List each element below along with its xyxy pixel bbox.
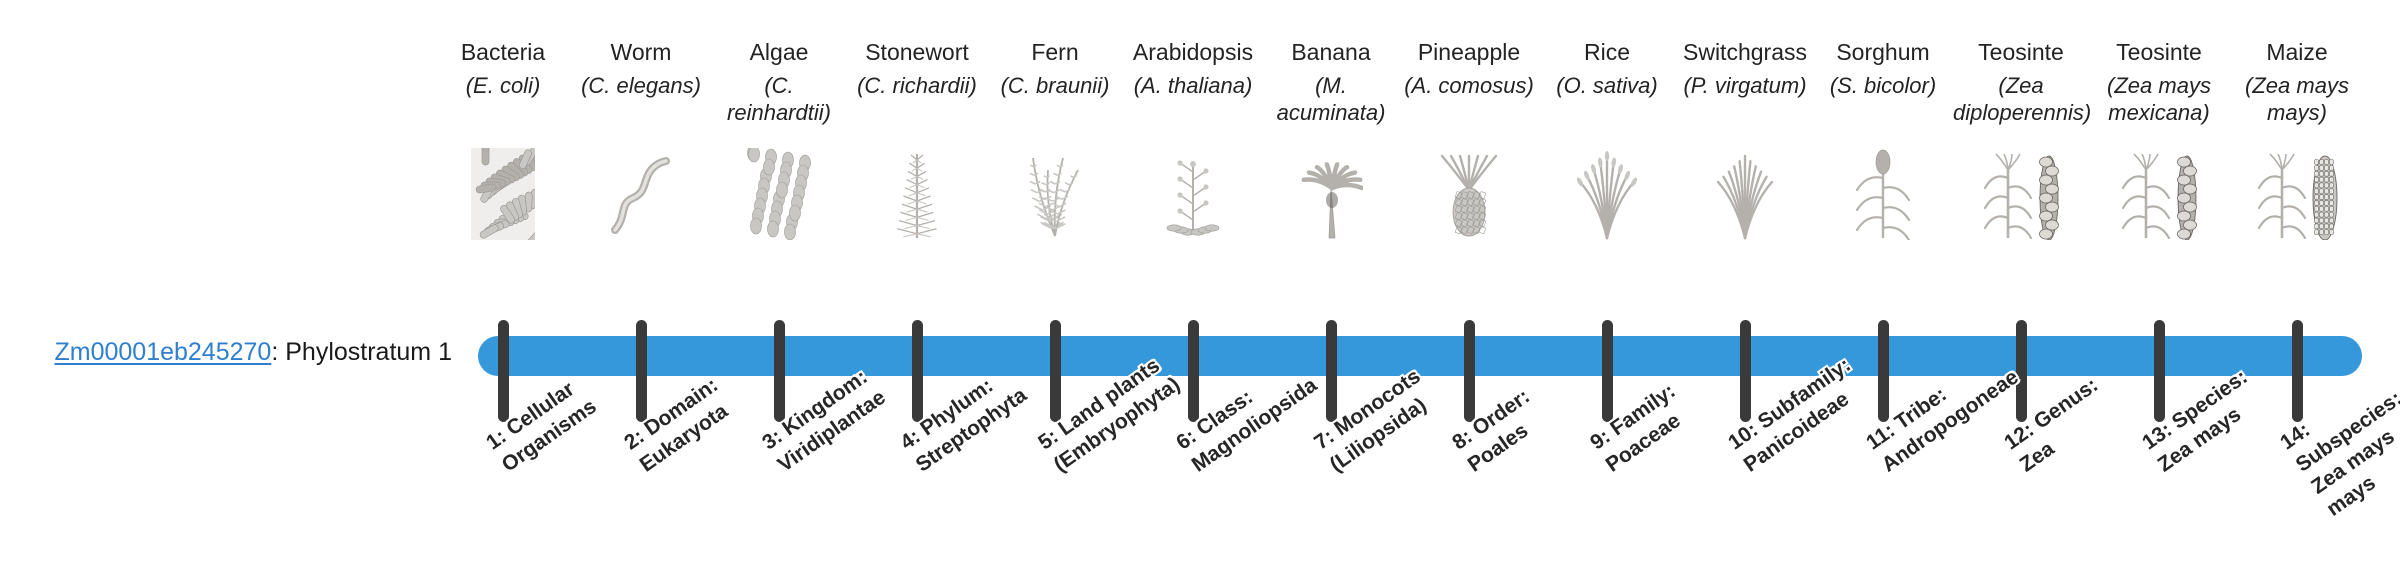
phylostratum-tick-2[interactable]: [636, 320, 647, 422]
phylostratum-tick-14[interactable]: [2292, 320, 2303, 422]
species-scientific-name: (C. braunii): [987, 72, 1123, 99]
species-column-worm-2: Worm(C. elegans): [571, 30, 711, 305]
species-common-name: Sorghum: [1803, 38, 1963, 66]
phylostratum-tick-6[interactable]: [1188, 320, 1199, 422]
species-column-switchgrass-10: Switchgrass(P. virgatum): [1675, 30, 1815, 305]
species-column-rice-9: Rice(O. sativa): [1537, 30, 1677, 305]
species-scientific-name: (Zea mays mexicana): [2091, 72, 2227, 126]
species-common-name: Switchgrass: [1665, 38, 1825, 66]
species-scientific-name: (O. sativa): [1539, 72, 1675, 99]
species-common-name: Maize: [2217, 38, 2377, 66]
species-common-name: Banana: [1251, 38, 1411, 66]
teosinte-illustration: [1951, 140, 2091, 240]
bacteria-illustration: [433, 140, 573, 240]
gene-phylostratum-label: Zm00001eb245270: Phylostratum 1: [0, 337, 452, 367]
phylostratum-tick-11[interactable]: [1878, 320, 1889, 422]
stonewort-illustration: [847, 140, 987, 240]
species-column-bacteria-1: Bacteria(E. coli): [433, 30, 573, 305]
maize-illustration: [2227, 140, 2367, 240]
species-common-name: Fern: [975, 38, 1135, 66]
species-column-maize-14: Maize(Zea mays mays): [2227, 30, 2367, 305]
switchgrass-illustration: [1675, 140, 1815, 240]
teosinte-mexicana-illustration: [2089, 140, 2229, 240]
species-common-name: Arabidopsis: [1113, 38, 1273, 66]
gene-id-link[interactable]: Zm00001eb245270: [54, 338, 271, 366]
phylostratum-tick-7[interactable]: [1326, 320, 1337, 422]
banana-illustration: [1261, 140, 1401, 240]
species-common-name: Teosinte: [1941, 38, 2101, 66]
phylostratum-tick-12[interactable]: [2016, 320, 2027, 422]
species-common-name: Pineapple: [1389, 38, 1549, 66]
species-scientific-name: (A. comosus): [1401, 72, 1537, 99]
species-common-name: Teosinte: [2079, 38, 2239, 66]
gene-separator: :: [271, 338, 285, 366]
rank-name: Genus:: [2030, 373, 2102, 433]
phylostratum-tick-10[interactable]: [1740, 320, 1751, 422]
species-scientific-name: (E. coli): [435, 72, 571, 99]
species-common-name: Bacteria: [423, 38, 583, 66]
phylostratum-tick-13[interactable]: [2154, 320, 2165, 422]
phylostratum-tick-3[interactable]: [774, 320, 785, 422]
species-common-name: Worm: [561, 38, 721, 66]
species-scientific-name: (M. acuminata): [1263, 72, 1399, 126]
species-scientific-name: (Zea diploperennis): [1953, 72, 2089, 126]
rice-illustration: [1537, 140, 1677, 240]
phylostratum-tick-9[interactable]: [1602, 320, 1613, 422]
species-scientific-name: (C. richardii): [849, 72, 985, 99]
species-column-stonewort-4: Stonewort(C. richardii): [847, 30, 987, 305]
pineapple-illustration: [1399, 140, 1539, 240]
worm-illustration: [571, 140, 711, 240]
species-common-name: Rice: [1527, 38, 1687, 66]
species-column-pineapple-8: Pineapple(A. comosus): [1399, 30, 1539, 305]
phylostratum-tick-1[interactable]: [498, 320, 509, 422]
species-scientific-name: (P. virgatum): [1677, 72, 1813, 99]
species-column-arabidopsis-6: Arabidopsis(A. thaliana): [1123, 30, 1263, 305]
phylostratum-tick-4[interactable]: [912, 320, 923, 422]
species-column-sorghum-11: Sorghum(S. bicolor): [1813, 30, 1953, 305]
species-column-teosinte-13: Teosinte(Zea mays mexicana): [2089, 30, 2229, 305]
fern-illustration: [985, 140, 1125, 240]
arabidopsis-illustration: [1123, 140, 1263, 240]
species-scientific-name: (C. elegans): [573, 72, 709, 99]
sorghum-illustration: [1813, 140, 1953, 240]
species-scientific-name: (C. reinhardtii): [711, 72, 847, 126]
species-column-teosinte-12: Teosinte(Zea diploperennis): [1951, 30, 2091, 305]
gene-phylostratum-value: Phylostratum 1: [285, 338, 452, 366]
species-scientific-name: (S. bicolor): [1815, 72, 1951, 99]
species-column-algae-3: Algae(C. reinhardtii): [709, 30, 849, 305]
algae-illustration: [709, 140, 849, 240]
phylostratum-tick-5[interactable]: [1050, 320, 1061, 422]
species-column-banana-7: Banana(M. acuminata): [1261, 30, 1401, 305]
phylostratigraphy-figure: Zm00001eb245270: Phylostratum 1 Bacteria…: [0, 0, 2400, 580]
species-scientific-name: (A. thaliana): [1125, 72, 1261, 99]
species-column-fern-5: Fern(C. braunii): [985, 30, 1125, 305]
species-scientific-name: (Zea mays mays): [2229, 72, 2365, 126]
species-common-name: Stonewort: [837, 38, 997, 66]
species-common-name: Algae: [699, 38, 859, 66]
phylostratum-tick-8[interactable]: [1464, 320, 1475, 422]
